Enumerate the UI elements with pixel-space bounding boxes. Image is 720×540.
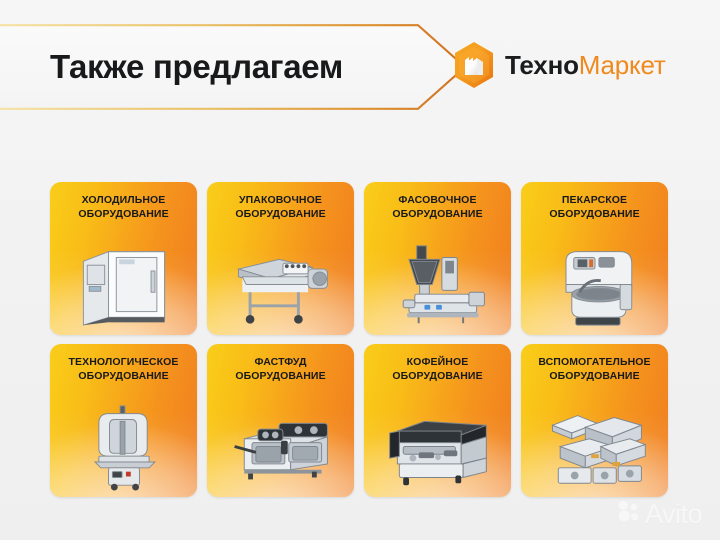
category-card-coffee-equipment[interactable]: КОФЕЙНОЕ ОБОРУДОВАНИЕ	[364, 344, 511, 497]
brand-logo[interactable]: ТехноМаркет	[452, 40, 666, 90]
brand-name-part1: Техно	[505, 50, 579, 80]
avito-wordmark: Avito	[645, 501, 702, 528]
page-title: Также предлагаем	[50, 48, 343, 86]
category-label-line1: ВСПОМОГАТЕЛЬНОЕ	[538, 356, 650, 368]
category-card-auxiliary-equipment[interactable]: ВСПОМОГАТЕЛЬНОЕ ОБОРУДОВАНИЕ	[521, 344, 668, 497]
category-label-line1: ТЕХНОЛОГИЧЕСКОЕ	[69, 356, 179, 368]
category-label-line1: ФАСТФУД	[254, 356, 306, 368]
spiral-dough-mixer-icon	[521, 236, 668, 329]
avito-watermark: Avito	[617, 500, 702, 528]
category-card-technological-equipment[interactable]: ТЕХНОЛОГИЧЕСКОЕ ОБОРУДОВАНИЕ	[50, 344, 197, 497]
category-label-line1: УПАКОВОЧНОЕ	[239, 194, 322, 206]
category-card-packing-equipment[interactable]: УПАКОВОЧНОЕ ОБОРУДОВАНИЕ	[207, 182, 354, 335]
category-label-line1: ХОЛОДИЛЬНОЕ	[82, 194, 166, 206]
category-label-line2: ОБОРУДОВАНИЕ	[392, 370, 482, 382]
category-label-line2: ОБОРУДОВАНИЕ	[78, 208, 168, 220]
technomarket-hexagon-logo-icon	[452, 41, 496, 89]
band-saw-icon	[50, 398, 197, 491]
category-card-label: ФАСОВОЧНОЕ ОБОРУДОВАНИЕ	[364, 182, 511, 222]
brand-name-part2: Маркет	[579, 50, 666, 80]
category-label-line2: ОБОРУДОВАНИЕ	[78, 370, 168, 382]
category-card-label: УПАКОВОЧНОЕ ОБОРУДОВАНИЕ	[207, 182, 354, 222]
category-label-line2: ОБОРУДОВАНИЕ	[235, 370, 325, 382]
espresso-coffee-machine-icon	[364, 398, 511, 491]
category-label-line1: КОФЕЙНОЕ	[407, 356, 469, 368]
category-card-fastfood-equipment[interactable]: ФАСТФУД ОБОРУДОВАНИЕ	[207, 344, 354, 497]
category-card-label: ТЕХНОЛОГИЧЕСКОЕ ОБОРУДОВАНИЕ	[50, 344, 197, 384]
double-deep-fryer-icon	[207, 398, 354, 491]
category-card-cold-equipment[interactable]: ХОЛОДИЛЬНОЕ ОБОРУДОВАНИЕ	[50, 182, 197, 335]
category-label-line1: ФАСОВОЧНОЕ	[398, 194, 476, 206]
category-label-line2: ОБОРУДОВАНИЕ	[549, 208, 639, 220]
category-card-bakery-equipment[interactable]: ПЕКАРСКОЕ ОБОРУДОВАНИЕ	[521, 182, 668, 335]
gastronorm-trays-icon	[521, 398, 668, 491]
shrink-wrap-packer-icon	[207, 236, 354, 329]
category-label-line2: ОБОРУДОВАНИЕ	[235, 208, 325, 220]
category-card-label: ПЕКАРСКОЕ ОБОРУДОВАНИЕ	[521, 182, 668, 222]
cold-room-chamber-icon	[50, 236, 197, 329]
category-label-line2: ОБОРУДОВАНИЕ	[549, 370, 639, 382]
category-card-label: ФАСТФУД ОБОРУДОВАНИЕ	[207, 344, 354, 384]
brand-name: ТехноМаркет	[505, 52, 666, 78]
category-card-label: КОФЕЙНОЕ ОБОРУДОВАНИЕ	[364, 344, 511, 384]
filling-dosing-machine-icon	[364, 236, 511, 329]
category-card-label: ХОЛОДИЛЬНОЕ ОБОРУДОВАНИЕ	[50, 182, 197, 222]
category-grid: ХОЛОДИЛЬНОЕ ОБОРУДОВАНИЕ	[50, 182, 670, 497]
category-card-filling-equipment[interactable]: ФАСОВОЧНОЕ ОБОРУДОВАНИЕ	[364, 182, 511, 335]
avito-dots-icon	[617, 500, 640, 528]
category-label-line1: ПЕКАРСКОЕ	[562, 194, 627, 206]
header-banner: Также предлагаем	[0, 24, 466, 110]
category-label-line2: ОБОРУДОВАНИЕ	[392, 208, 482, 220]
category-card-label: ВСПОМОГАТЕЛЬНОЕ ОБОРУДОВАНИЕ	[521, 344, 668, 384]
